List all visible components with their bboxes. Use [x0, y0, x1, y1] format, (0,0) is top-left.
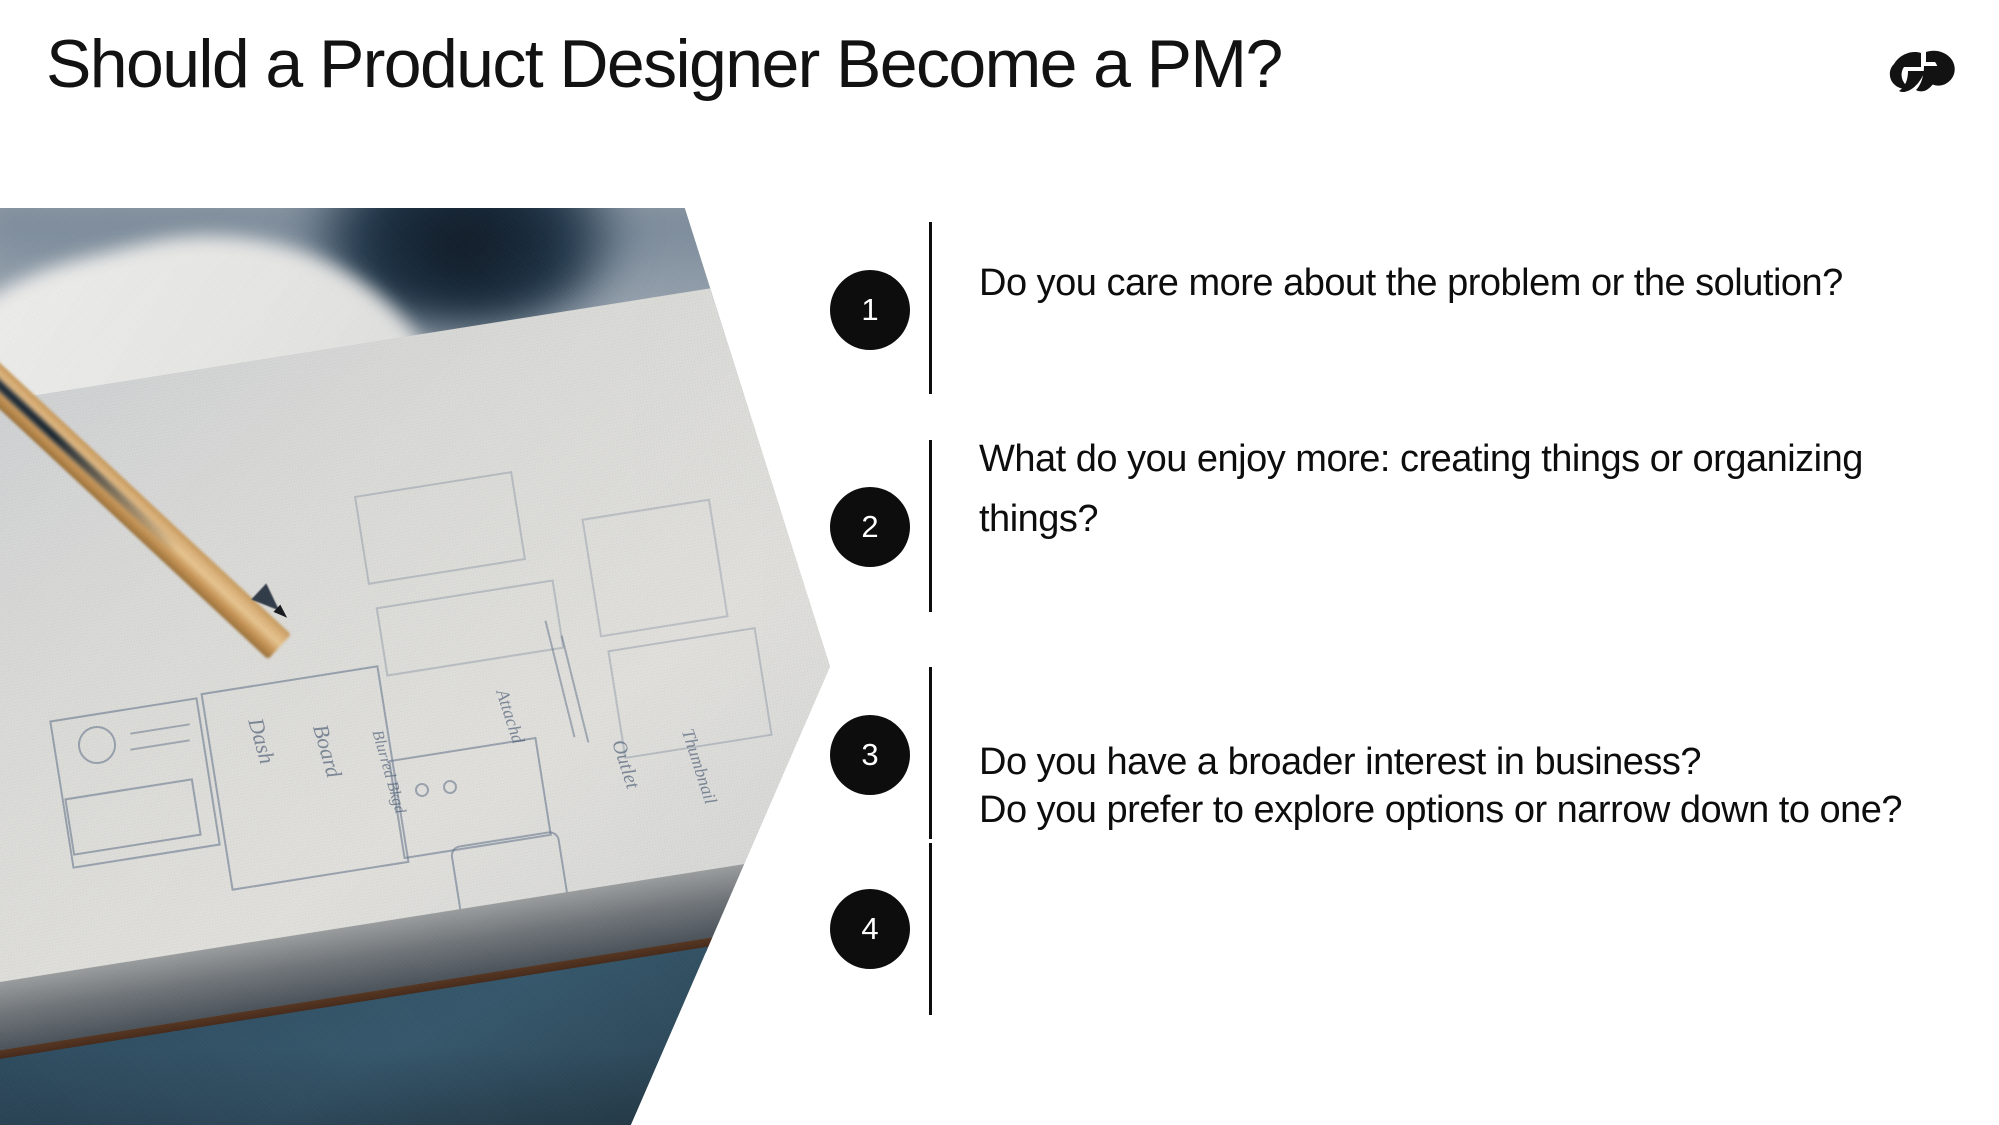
item-number-badge: 4 [830, 889, 910, 969]
slide-canvas: Should a Product Designer Become a PM? D… [0, 0, 1999, 1125]
item-question-text: Do you care more about the problem or th… [979, 253, 1929, 313]
item-number-badge: 2 [830, 487, 910, 567]
item-divider [929, 440, 932, 612]
item-question-text: What do you enjoy more: creating things … [979, 429, 1929, 549]
item-divider [929, 843, 932, 1015]
item-question-text: Do you prefer to explore options or narr… [979, 780, 1929, 840]
item-divider [929, 222, 932, 394]
question-list: 1 Do you care more about the problem or … [0, 0, 1999, 1125]
item-number-badge: 3 [830, 715, 910, 795]
item-divider [929, 667, 932, 839]
item-number-badge: 1 [830, 270, 910, 350]
